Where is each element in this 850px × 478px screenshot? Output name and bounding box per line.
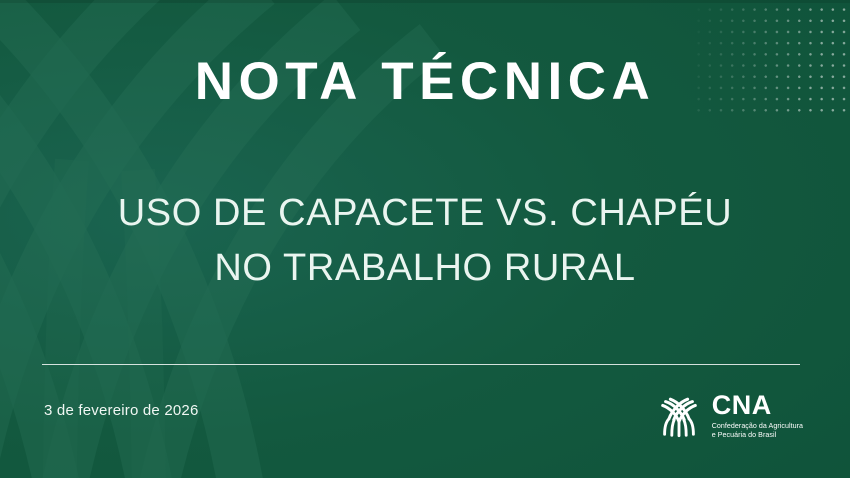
- cna-tagline-line-2: e Pecuária do Brasil: [712, 431, 803, 440]
- page-subtitle-line-1: USO DE CAPACETE VS. CHAPÉU: [0, 186, 850, 241]
- cna-woven-stalks-icon: [655, 392, 703, 440]
- page-subtitle-line-2: NO TRABALHO RURAL: [0, 241, 850, 296]
- horizontal-rule-icon: [42, 364, 800, 365]
- cna-logo: CNA Confederação da Agricultura e Pecuár…: [655, 392, 803, 441]
- slide-content: NOTA TÉCNICA USO DE CAPACETE VS. CHAPÉU …: [0, 0, 850, 478]
- publication-date: 3 de fevereiro de 2026: [44, 402, 199, 419]
- nota-tecnica-cover-slide: NOTA TÉCNICA USO DE CAPACETE VS. CHAPÉU …: [0, 0, 850, 478]
- cna-logo-text: CNA Confederação da Agricultura e Pecuár…: [712, 392, 803, 441]
- cna-tagline-line-1: Confederação da Agricultura: [712, 422, 803, 431]
- page-title: NOTA TÉCNICA: [0, 54, 850, 110]
- cna-wordmark: CNA: [712, 392, 803, 419]
- cna-tagline: Confederação da Agricultura e Pecuária d…: [712, 422, 803, 441]
- page-subtitle: USO DE CAPACETE VS. CHAPÉU NO TRABALHO R…: [0, 186, 850, 296]
